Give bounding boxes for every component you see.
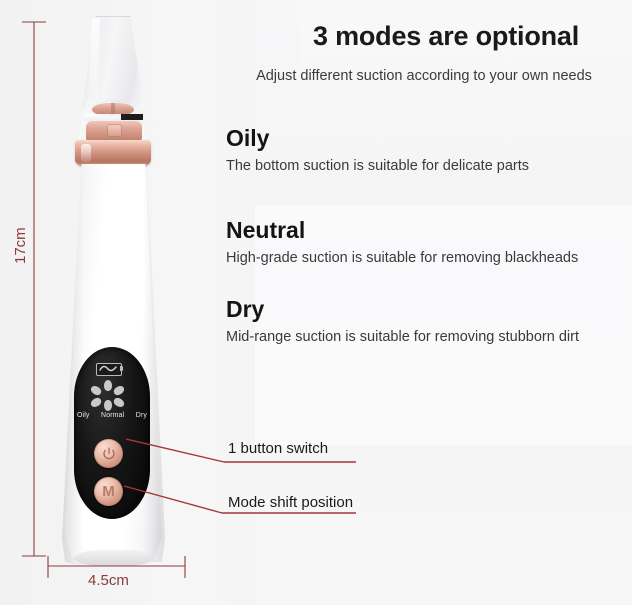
body-shadow-right [143, 164, 165, 566]
flower-petals-icon [89, 380, 127, 410]
background-panel-top [300, 0, 632, 130]
panel-mode-labels: Oily Normal Dry [77, 412, 147, 419]
mode-title-oily: Oily [226, 126, 626, 150]
mode-block-oily: Oily The bottom suction is suitable for … [226, 126, 626, 175]
nozzle-black-marker [121, 114, 143, 120]
body-shadow-left [62, 164, 84, 566]
dimension-label-width: 4.5cm [88, 572, 129, 589]
battery-charge-wave-icon [99, 365, 117, 372]
nozzle-center-tab [107, 124, 122, 137]
mode-block-dry: Dry Mid-range suction is suitable for re… [226, 297, 626, 346]
device-base [74, 550, 153, 566]
mode-button-letter: M [102, 484, 115, 499]
battery-tip-icon [120, 366, 123, 371]
panel-mode-label-oily: Oily [77, 412, 89, 419]
mode-button[interactable]: M [94, 477, 123, 506]
power-button[interactable] [94, 439, 123, 468]
power-icon [102, 447, 116, 461]
mode-description-neutral: High-grade suction is suitable for remov… [226, 249, 626, 267]
device-illustration: Oily Normal Dry M [48, 14, 188, 566]
callout-label-mode: Mode shift position [228, 494, 353, 511]
mode-title-dry: Dry [226, 297, 626, 321]
page-title: 3 modes are optional [268, 22, 624, 52]
mode-description-oily: The bottom suction is suitable for delic… [226, 157, 626, 175]
page-subtitle: Adjust different suction according to yo… [222, 68, 626, 85]
panel-mode-label-dry: Dry [136, 412, 147, 419]
ring-highlight [81, 144, 91, 162]
mode-block-neutral: Neutral High-grade suction is suitable f… [226, 218, 626, 267]
panel-mode-label-normal: Normal [101, 412, 124, 419]
callout-label-power: 1 button switch [228, 440, 328, 457]
mode-description-dry: Mid-range suction is suitable for removi… [226, 328, 626, 346]
mode-title-neutral: Neutral [226, 218, 626, 242]
dimension-label-height: 17cm [12, 227, 29, 264]
